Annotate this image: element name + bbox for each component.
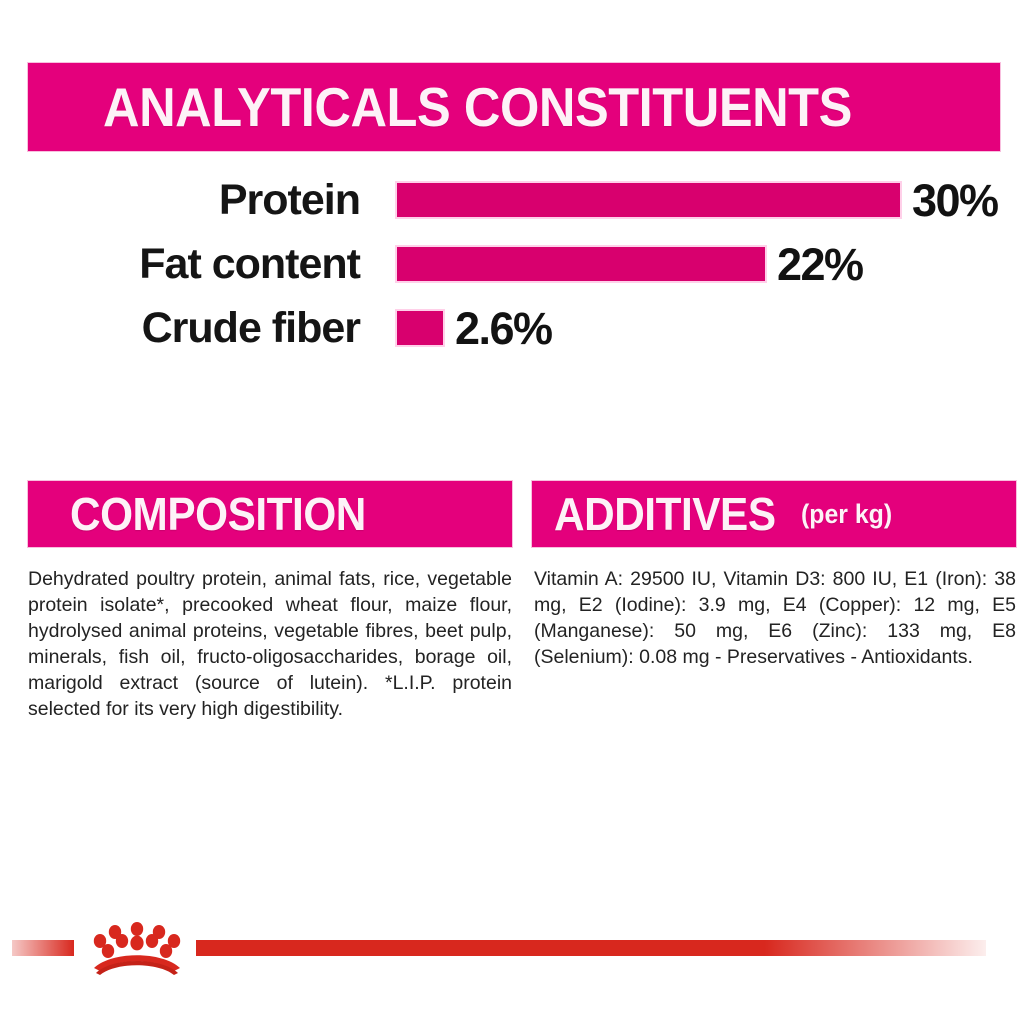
bar-value-protein: 30% (912, 178, 998, 223)
bar-value-crude-fiber: 2.6% (455, 306, 552, 351)
composition-title: COMPOSITION (70, 491, 366, 537)
footer-brand-rule (0, 918, 1024, 978)
additives-title: ADDITIVES (554, 491, 776, 537)
footer-rule-right (196, 940, 986, 956)
chart-row-crude-fiber: Crude fiber 2.6% (28, 300, 1000, 356)
footer-rule-left (12, 940, 74, 956)
bar-fill-fat-content (397, 247, 765, 281)
bar-track-protein: 30% (397, 178, 998, 223)
bar-label-crude-fiber: Crude fiber (28, 307, 360, 350)
analyticals-constituents-title: ANALYTICALS CONSTITUENTS (103, 80, 852, 135)
royal-crown-icon (82, 918, 192, 978)
analyticals-constituents-header: ANALYTICALS CONSTITUENTS (28, 63, 1000, 151)
additives-header: ADDITIVES (per kg) (532, 481, 1016, 547)
bar-fill-protein (397, 183, 900, 217)
chart-row-protein: Protein 30% (28, 172, 1000, 228)
bar-fill-crude-fiber (397, 311, 443, 345)
bar-value-fat-content: 22% (777, 242, 863, 287)
chart-row-fat-content: Fat content 22% (28, 236, 1000, 292)
additives-body-text: Vitamin A: 29500 IU, Vitamin D3: 800 IU,… (534, 566, 1016, 670)
bar-label-fat-content: Fat content (28, 243, 360, 286)
nutrition-panel: ANALYTICALS CONSTITUENTS Protein 30% Fat… (0, 0, 1024, 1024)
analyticals-bar-chart: Protein 30% Fat content 22% Crude fiber … (28, 172, 1000, 362)
additives-per-kg-subtitle: (per kg) (801, 499, 892, 530)
bar-track-fat-content: 22% (397, 242, 863, 287)
composition-header: COMPOSITION (28, 481, 512, 547)
composition-body-text: Dehydrated poultry protein, animal fats,… (28, 566, 512, 722)
bar-track-crude-fiber: 2.6% (397, 306, 552, 351)
bar-label-protein: Protein (28, 179, 360, 222)
